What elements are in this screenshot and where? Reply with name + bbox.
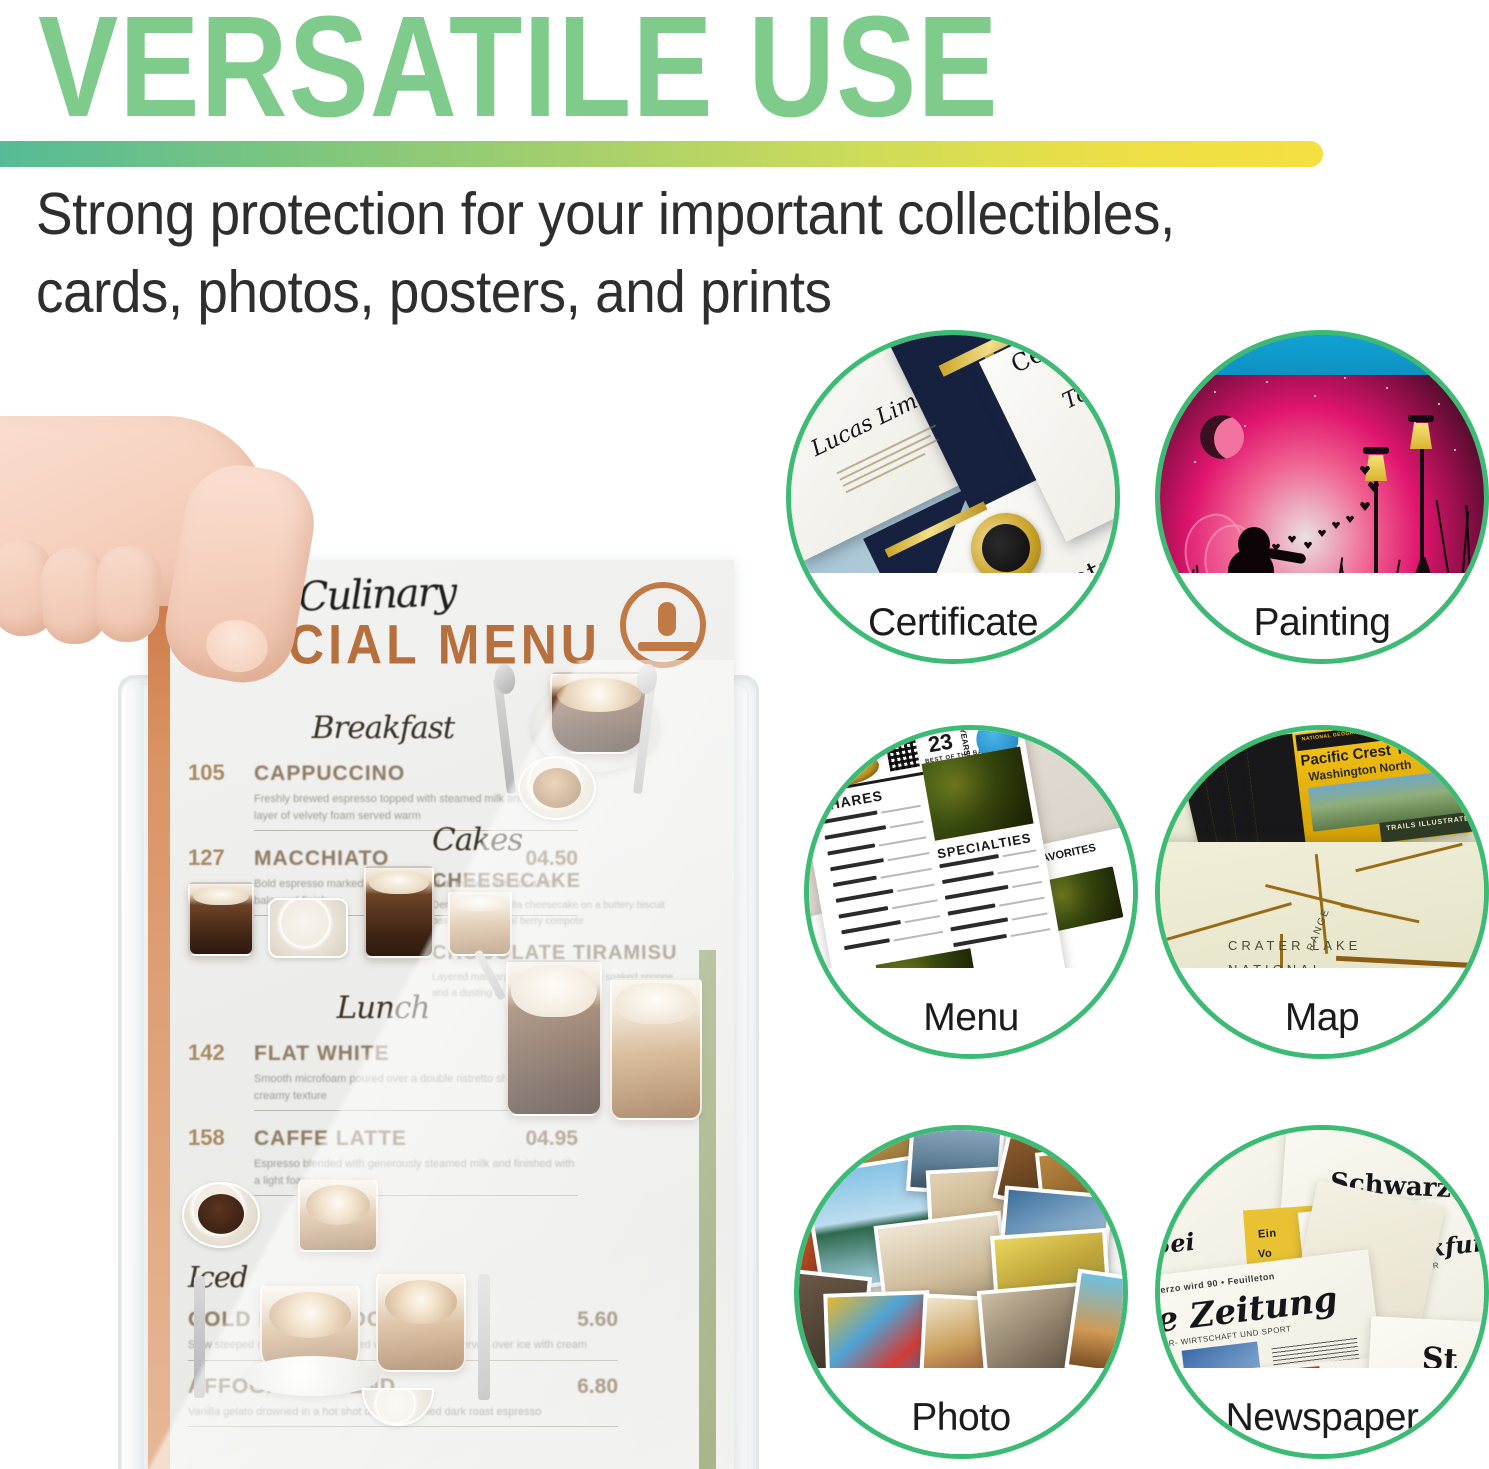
menu-item-price: 04.95 [525, 1127, 578, 1151]
menu-item-number: 127 [188, 845, 254, 871]
product-infographic: VERSATILE USE Strong protection for your… [0, 0, 1489, 1469]
product-photo: Culinary SPECIAL MENU Breakfast 105 CAPP… [0, 330, 790, 1469]
coffee-cup-image [364, 866, 434, 958]
saucer-image [244, 1356, 380, 1396]
category-label: Menu [809, 996, 1133, 1040]
category-circle: NATIONAL GEOGRAPHIC Pacific Crest Trail … [1155, 725, 1489, 1059]
category-label: Photo [799, 1396, 1123, 1440]
fork-icon [194, 1276, 205, 1398]
menu-item-divider [188, 1426, 618, 1427]
category-label: Painting [1160, 601, 1484, 645]
menu-section-heading: Cakes [432, 822, 682, 858]
coffee-cup-image [448, 890, 512, 956]
menu-item-row: 158 CAFFE LATTE 04.95 Espresso blended w… [188, 1125, 578, 1196]
menu-item-number: 158 [188, 1125, 254, 1151]
menu-item-name: CAFFE LATTE [254, 1127, 525, 1151]
menu-item-price: 6.80 [577, 1375, 618, 1399]
category-menu[interactable]: FAVORITES 23 YEARS BEST OF THE BAY [804, 725, 1138, 1059]
menu-item-number: 142 [188, 1040, 254, 1066]
sleeve-left-lip [122, 680, 144, 1469]
category-painting[interactable]: Painting [1155, 330, 1489, 664]
lamp-cap-icon [1408, 415, 1434, 422]
coffee-cup-image [376, 1272, 466, 1372]
crescent-moon-icon [1200, 415, 1244, 459]
category-label: Newspaper [1160, 1396, 1484, 1440]
category-photo[interactable]: Photo [794, 1125, 1128, 1459]
title-divider-bar [0, 141, 1323, 167]
coffee-cup-image [268, 898, 348, 958]
page-subtitle: Strong protection for your important col… [36, 176, 1301, 332]
category-circle: Tag Schwarzwa che r Sei Ein Vo Frankfurt… [1155, 1125, 1489, 1459]
category-circle: Photo [794, 1125, 1128, 1459]
category-circle: Painting [1155, 330, 1489, 664]
coffee-cup-image [518, 756, 596, 820]
category-map[interactable]: NATIONAL GEOGRAPHIC Pacific Crest Trail … [1155, 725, 1489, 1059]
painting-sky-strip [1155, 330, 1489, 375]
page-title: VERSATILE USE [38, 0, 999, 141]
lamp-cap-icon [1363, 447, 1389, 454]
menu-left-accent-strip [148, 560, 170, 1469]
menu-item-number: 105 [188, 760, 254, 786]
coffee-cup-image [188, 882, 254, 956]
spoon-icon [635, 663, 659, 695]
knife-icon [478, 1274, 490, 1400]
menu-item-name: FLAT WHITE [254, 1042, 525, 1066]
category-newspaper[interactable]: Tag Schwarzwa che r Sei Ein Vo Frankfurt… [1155, 1125, 1489, 1459]
coffee-cup-image [610, 978, 702, 1120]
menu-section-heading: Breakfast [188, 710, 578, 746]
coffee-cup-image [550, 672, 648, 754]
menu-item-price: 5.60 [577, 1308, 618, 1332]
finger [94, 544, 163, 643]
restaurant-logo-badge-icon [620, 582, 706, 668]
category-circle: Lucas Lim Ce To Certificate Certificate [786, 330, 1120, 664]
category-grid: Lucas Lim Ce To Certificate Certificate [786, 330, 1489, 1469]
coffee-cup-image [182, 1182, 260, 1248]
map-park-line1: CRATER LAKE [1228, 938, 1361, 953]
category-certificate[interactable]: Lucas Lim Ce To Certificate Certificate [786, 330, 1120, 664]
category-circle: FAVORITES 23 YEARS BEST OF THE BAY [804, 725, 1138, 1059]
coffee-cup-image [506, 960, 602, 1116]
category-label: Map [1160, 996, 1484, 1040]
hand-image [0, 390, 400, 690]
category-label: Certificate [791, 601, 1115, 645]
menu-sheet: Culinary SPECIAL MENU Breakfast 105 CAPP… [148, 560, 734, 1469]
coffee-cup-image [298, 1178, 378, 1252]
